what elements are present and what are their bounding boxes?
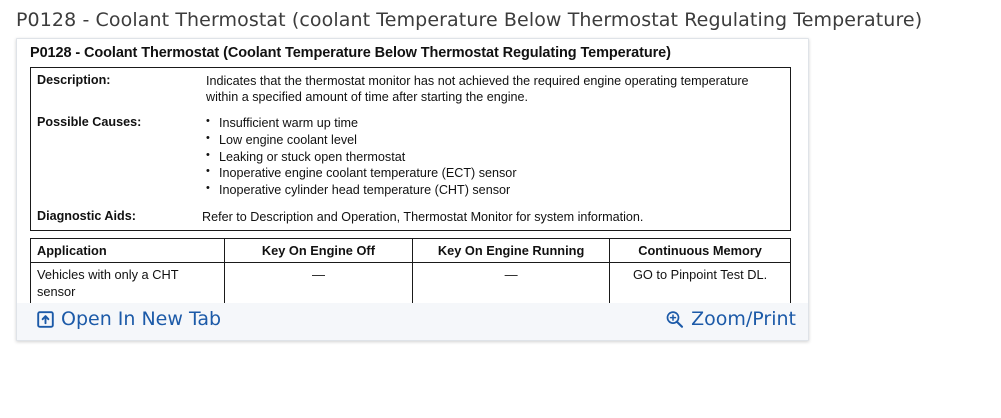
- diagnostic-aids-label: Diagnostic Aids:: [31, 204, 193, 231]
- table-row: Vehicles with only a CHT sensor — — GO t…: [31, 263, 791, 304]
- open-in-new-tab-label: Open In New Tab: [61, 308, 221, 330]
- list-item: Leaking or stuck open thermostat: [206, 149, 784, 166]
- description-value: Indicates that the thermostat monitor ha…: [192, 68, 791, 111]
- open-in-new-tab-link[interactable]: Open In New Tab: [37, 308, 221, 330]
- scanned-document: P0128 - Coolant Thermostat (Coolant Temp…: [17, 39, 808, 303]
- possible-causes-list: Insufficient warm up time Low engine coo…: [206, 115, 784, 199]
- results-grid-header-row: Application Key On Engine Off Key On Eng…: [31, 239, 791, 263]
- document-heading: P0128 - Coolant Thermostat (Coolant Temp…: [30, 45, 671, 61]
- cell-key-on-engine-off: —: [224, 263, 412, 304]
- list-item: Low engine coolant level: [206, 132, 784, 149]
- cell-key-on-engine-running: —: [413, 263, 610, 304]
- diagnostic-aids-value: Refer to Description and Operation, Ther…: [192, 204, 791, 231]
- dtc-table: Description: Indicates that the thermost…: [30, 67, 791, 231]
- list-item: Inoperative engine coolant temperature (…: [206, 165, 784, 182]
- column-header-key-on-engine-running: Key On Engine Running: [413, 239, 610, 263]
- description-label: Description:: [31, 68, 193, 111]
- column-header-key-on-engine-off: Key On Engine Off: [224, 239, 412, 263]
- zoom-print-link[interactable]: Zoom/Print: [665, 308, 796, 330]
- column-header-continuous-memory: Continuous Memory: [610, 239, 791, 263]
- column-header-application: Application: [31, 239, 225, 263]
- list-item: Inoperative cylinder head temperature (C…: [206, 182, 784, 199]
- open-in-new-tab-icon: [37, 311, 54, 328]
- page-title: P0128 - Coolant Thermostat (coolant Temp…: [16, 9, 922, 31]
- dtc-document-panel: P0128 - Coolant Thermostat (Coolant Temp…: [16, 38, 809, 341]
- screen: P0128 - Coolant Thermostat (coolant Temp…: [0, 0, 1001, 418]
- document-action-bar: Open In New Tab Zoom/Print: [17, 304, 808, 340]
- table-row-diagnostic-aids: Diagnostic Aids: Refer to Description an…: [31, 204, 791, 231]
- list-item: Insufficient warm up time: [206, 115, 784, 132]
- zoom-print-label: Zoom/Print: [691, 308, 796, 330]
- results-grid: Application Key On Engine Off Key On Eng…: [30, 238, 791, 303]
- table-row-description: Description: Indicates that the thermost…: [31, 68, 791, 111]
- cell-continuous-memory: GO to Pinpoint Test DL.: [610, 263, 791, 304]
- table-row-possible-causes: Possible Causes: Insufficient warm up ti…: [31, 110, 791, 204]
- cell-application: Vehicles with only a CHT sensor: [31, 263, 225, 304]
- magnifier-plus-icon: [665, 310, 684, 329]
- possible-causes-value: Insufficient warm up time Low engine coo…: [192, 110, 791, 204]
- possible-causes-label: Possible Causes:: [31, 110, 193, 204]
